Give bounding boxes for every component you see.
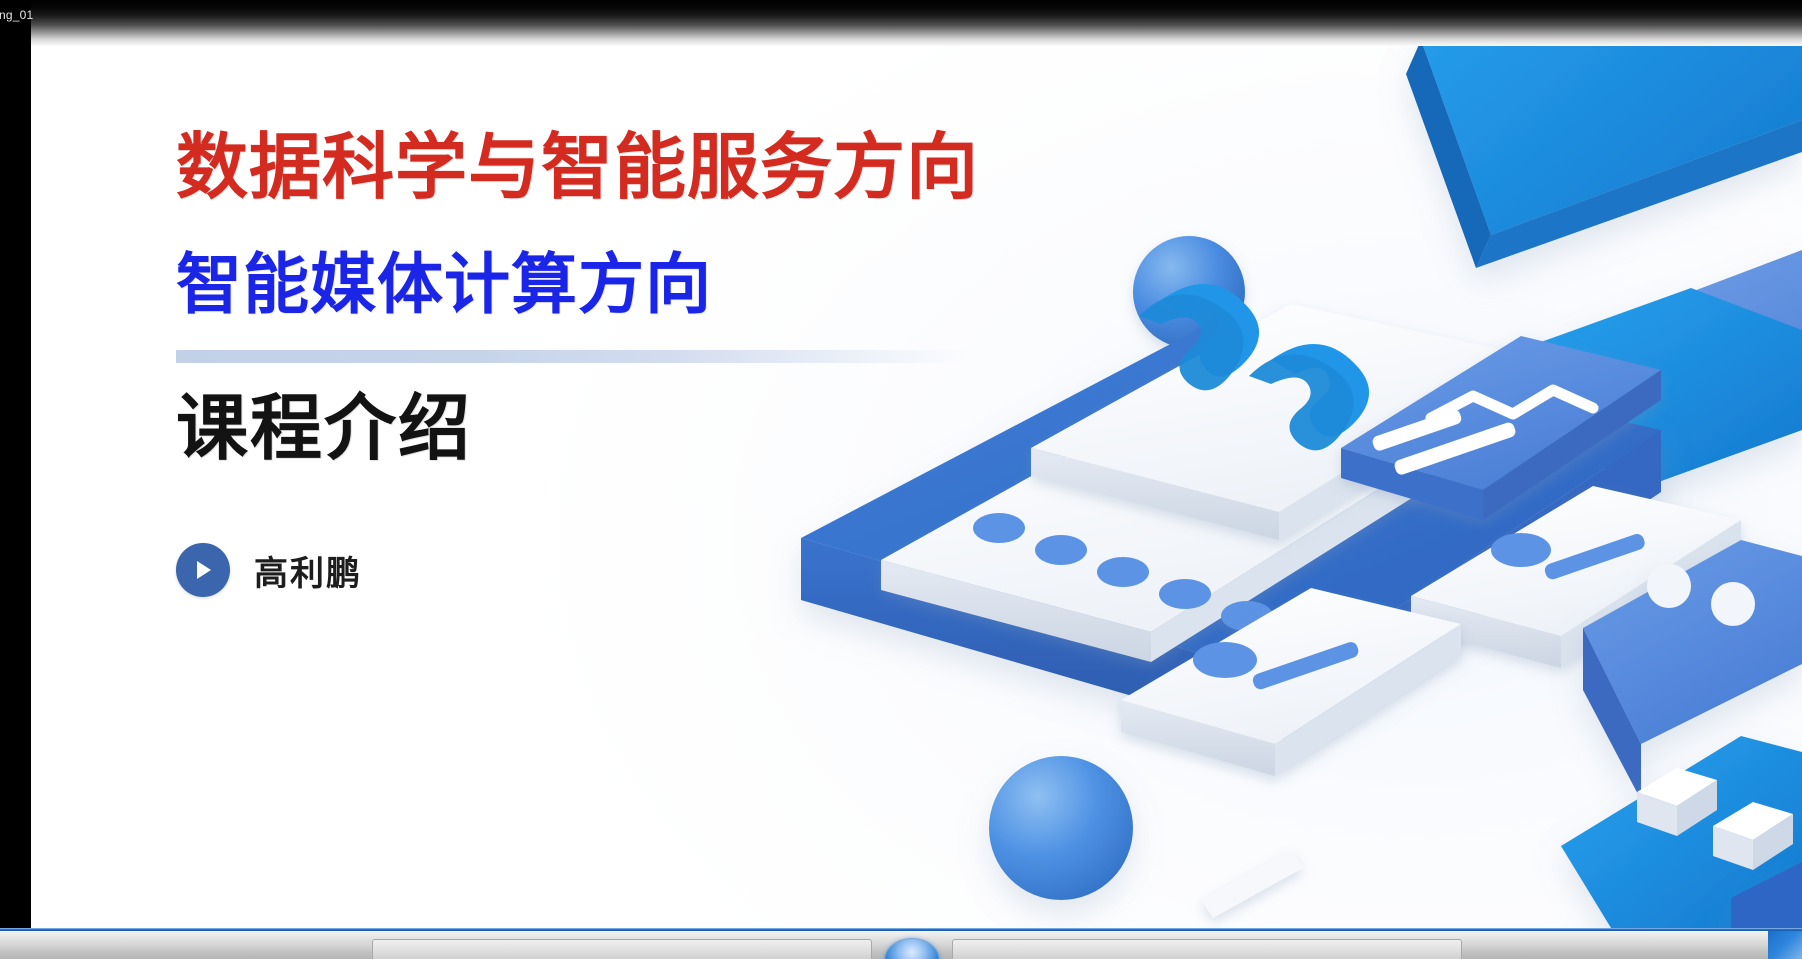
illustration-panel-top-right xyxy=(1406,0,1802,268)
presenter-row: 高利鹏 xyxy=(176,543,1176,597)
slide-subtitle: 课程介绍 xyxy=(176,391,1176,466)
screen-capture: ng_01 xyxy=(0,0,1802,959)
taskbar-segment-left[interactable] xyxy=(372,939,872,959)
slide-text-block: 数据科学与智能服务方向 智能媒体计算方向 课程介绍 高利鹏 xyxy=(176,130,1176,597)
slide-title-secondary: 智能媒体计算方向 xyxy=(176,251,1176,320)
taskbar-corner-accent xyxy=(1768,931,1802,959)
title-divider xyxy=(176,350,971,363)
left-black-rail xyxy=(0,0,31,928)
taskbar-segment-right[interactable] xyxy=(952,939,1462,959)
play-icon xyxy=(176,543,230,597)
presenter-name: 高利鹏 xyxy=(254,546,362,595)
illustration-sphere-large xyxy=(989,756,1133,900)
presentation-slide: 数据科学与智能服务方向 智能媒体计算方向 课程介绍 高利鹏 xyxy=(31,0,1802,928)
window-file-label: ng_01 xyxy=(0,8,45,22)
slide-title-primary: 数据科学与智能服务方向 xyxy=(176,130,1176,205)
illustration-stylus xyxy=(1201,850,1303,918)
windows-taskbar[interactable] xyxy=(0,928,1802,959)
